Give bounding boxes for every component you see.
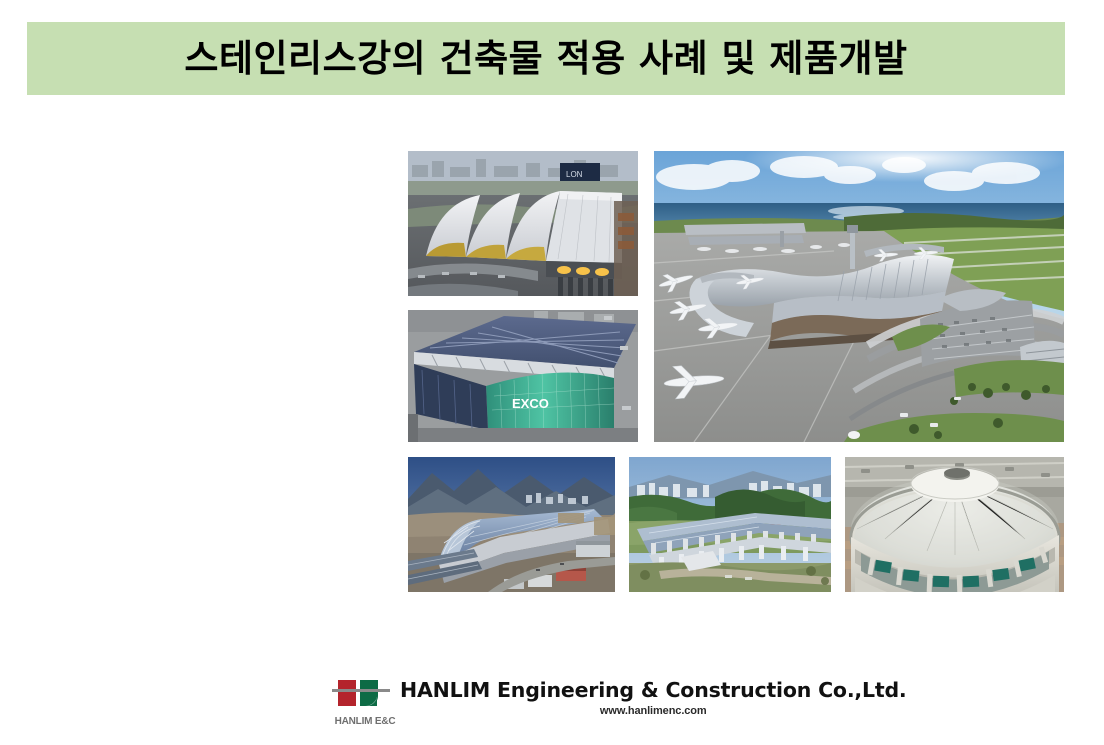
logo-caption: HANLIM E&C xyxy=(332,716,398,727)
photo-railway-station-arched-shed xyxy=(408,457,615,592)
railway-station-winter-image xyxy=(408,457,615,592)
hanlim-logo: HANLIM E&C xyxy=(332,676,394,732)
photo-airport-terminal-rendering xyxy=(654,151,1064,442)
convention-center-image: LON xyxy=(408,151,638,296)
slide-footer: HANLIM E&C HANLIM Engineering & Construc… xyxy=(0,676,1104,745)
photo-gallery: LON xyxy=(0,0,1104,745)
exco-label: EXCO xyxy=(512,396,549,411)
footer-text-group: HANLIM Engineering & Construction Co.,Lt… xyxy=(400,676,907,717)
airport-image xyxy=(654,151,1064,442)
railway-station-summer-image xyxy=(629,457,831,592)
footer-inner: HANLIM E&C HANLIM Engineering & Construc… xyxy=(332,676,907,732)
photo-domed-arena xyxy=(845,457,1064,592)
hanlim-logo-mark xyxy=(332,676,394,716)
slide-root: 스테인리스강의 건축물 적용 사례 및 제품개발 xyxy=(0,0,1104,745)
exco-image: EXCO xyxy=(408,310,638,442)
photo-convention-center-wave-roof: LON xyxy=(408,151,638,296)
company-website[interactable]: www.hanlimenc.com xyxy=(400,705,907,717)
company-name: HANLIM Engineering & Construction Co.,Lt… xyxy=(400,679,907,703)
photo-exco-exhibition-center: EXCO xyxy=(408,310,638,442)
domed-arena-image xyxy=(845,457,1064,592)
photo-railway-station-platform-canopy xyxy=(629,457,831,592)
svg-text:LON: LON xyxy=(566,170,583,179)
